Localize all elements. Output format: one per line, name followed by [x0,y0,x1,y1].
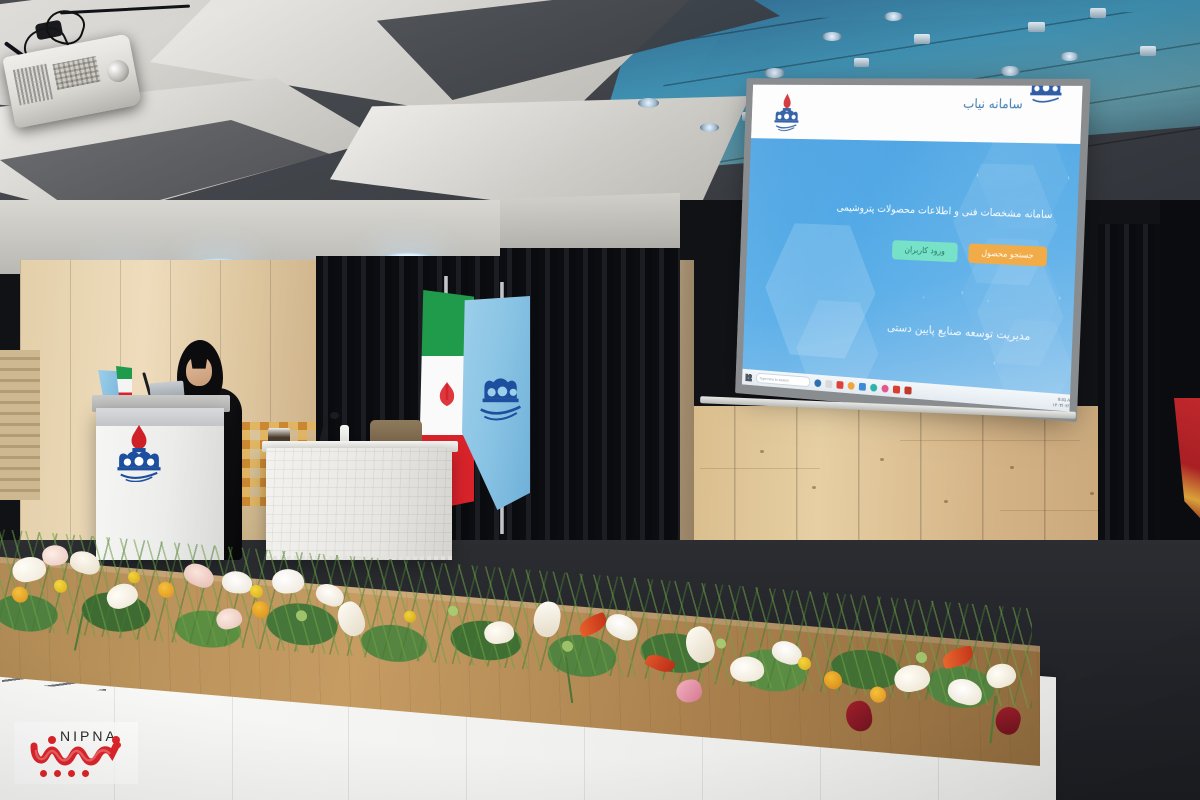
green-bud [296,610,307,622]
green-bud [716,638,726,649]
slide-body: سامانه مشخصات فنی و اطلاعات محصولات پترو… [742,138,1080,411]
projected-slide: سامانه نیاب سامانه مشخصات فنی و اطلاعات … [742,85,1083,412]
product-search-button[interactable]: جستجو محصول [968,243,1047,266]
start-button[interactable] [745,373,752,381]
nipna-watermark: NIPNA [14,722,138,784]
nioc-flag-emblem [470,368,524,440]
microphone-head [330,412,339,419]
user-login-button[interactable]: ورود کاربران [892,240,958,262]
yellow-craspedia [250,584,263,598]
taskbar-icon[interactable] [893,385,900,393]
green-bud [448,606,458,617]
taskbar-icon[interactable] [870,383,877,391]
orange-flower [12,586,28,603]
taskbar-icon[interactable] [881,384,888,392]
projector-lens [105,58,131,84]
yellow-craspedia [54,579,67,593]
yellow-craspedia [128,571,140,584]
taskbar-icon[interactable] [814,379,821,387]
orange-flower [252,600,269,618]
nioc-flame-logo [771,92,803,135]
taskbar-icon[interactable] [825,380,832,388]
projection-screen: سامانه نیاب سامانه مشخصات فنی و اطلاعات … [742,85,1083,412]
green-bud [562,640,573,652]
orange-flower [824,670,842,689]
orange-flower [158,581,174,598]
iran-flag-emblem [434,378,460,408]
taskbar-search-input[interactable]: Type here to search [756,373,810,388]
green-bud [916,652,927,664]
orange-flower [870,686,886,703]
yellow-craspedia [404,610,416,623]
taskbar-icon[interactable] [848,381,855,389]
yellow-craspedia [798,656,811,670]
wall-louver-panel [0,350,40,500]
nioc-flame-logo [1024,85,1068,108]
nioc-flame-logo [112,424,166,482]
slide-brand-title: سامانه نیاب [963,97,1023,112]
taskbar-icon[interactable] [859,382,866,390]
nipna-persian-wordmark [30,742,126,768]
taskbar-icon[interactable] [836,380,843,388]
auditorium-photograph: سامانه نیاب سامانه مشخصات فنی و اطلاعات … [0,0,1200,800]
red-anthurium [843,700,875,733]
taskbar-icon[interactable] [904,386,911,394]
